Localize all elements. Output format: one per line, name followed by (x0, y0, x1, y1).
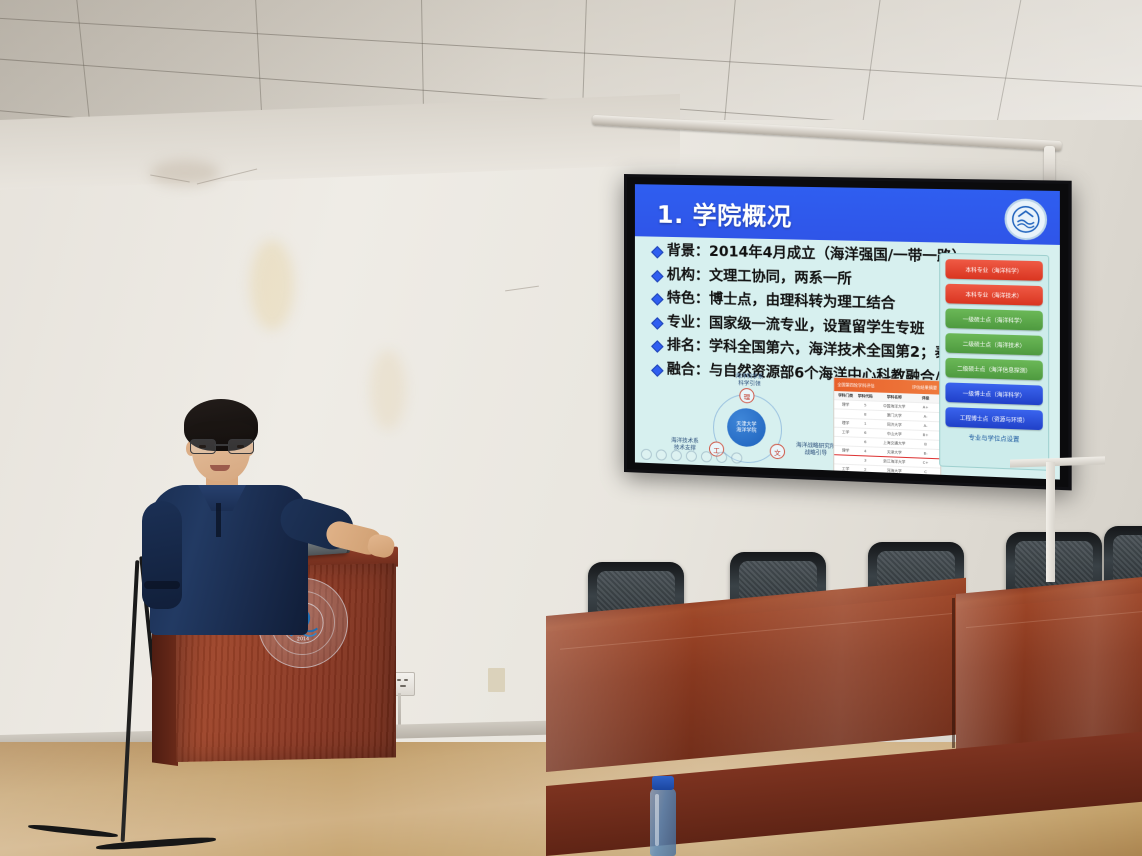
diamond-bullet-icon (651, 340, 664, 353)
lecture-room-photo: 1. 学院概况 背景：2014年4月成立（海洋强国/一带一路） 机构：文理工协 (0, 0, 1142, 856)
bullet-text: 国家级一流专业，设置留学生专班 (709, 315, 925, 337)
cell: A- (915, 414, 936, 419)
cell: 1 (857, 421, 874, 426)
cell: 8 (857, 412, 874, 417)
cell: 上海交通大学 (874, 440, 916, 447)
laser-icon[interactable] (686, 450, 697, 462)
bullet-label: 特色： (667, 290, 709, 307)
cell: 工学 (834, 429, 857, 435)
presenter-placket (216, 503, 221, 537)
list-item: 专业：国家级一流专业，设置留学生专班 (653, 313, 971, 340)
cell: 6 (857, 440, 874, 445)
cell: 2 (857, 467, 874, 472)
settings-icon[interactable] (716, 452, 727, 464)
col-head: 学科代码 (857, 393, 874, 399)
cell: 工学 (834, 466, 857, 472)
cell: 理学 (834, 448, 857, 454)
pointer-icon[interactable] (641, 449, 652, 460)
cell: A- (915, 423, 936, 428)
cell: 5 (857, 476, 874, 478)
slide-bullet-list: 背景：2014年4月成立（海洋强国/一带一路） 机构：文理工协同，两系一所 特色… (653, 243, 971, 395)
cell: 浙江海洋大学 (874, 458, 916, 465)
org-node-wen: 文 (770, 444, 785, 460)
list-item: 排名：学科全国第六，海洋技术全国第2；泰晤士A类 (653, 337, 971, 364)
degree-box: 二级硕士点（海洋信息探测） (945, 358, 1042, 381)
cell: 天津大学 (874, 449, 916, 456)
cell: 理学 (834, 402, 857, 408)
water-bottle[interactable] (650, 788, 676, 856)
presenter (140, 385, 370, 635)
cell: 3 (857, 458, 874, 463)
bullet-label: 专业： (667, 314, 709, 331)
cell (834, 413, 857, 414)
cell: 理学 (834, 420, 857, 426)
org-top-caption: 海洋科学系 科学引领 (713, 373, 786, 389)
list-item: 机构：文理工协同，两系一所 (653, 266, 971, 291)
slide-title: 1. 学院概况 (657, 195, 792, 233)
cell: 河海大学 (874, 467, 916, 474)
degree-box: 本科专业（海洋技术） (945, 284, 1042, 306)
col-head: 学科门类 (834, 393, 857, 399)
bullet-text: 2014年4月成立（海洋强国/一带一路） (709, 244, 966, 266)
bullet-label: 机构： (667, 266, 709, 283)
svg-text:2014: 2014 (297, 636, 309, 642)
table-header-left: 全国第四轮学科评估 (837, 381, 874, 388)
cell: 哈尔滨工程大学 (874, 477, 916, 479)
diamond-bullet-icon (651, 246, 664, 259)
pen-icon[interactable] (656, 449, 667, 460)
bullet-text: 文理工协同，两系一所 (709, 267, 852, 287)
diamond-bullet-icon (651, 293, 664, 306)
degree-panel-caption: 专业与学位点设置 (945, 432, 1042, 445)
degree-box: 工程博士点（资源与环境） (945, 407, 1042, 430)
org-center-node: 天津大学 海洋学院 (727, 408, 766, 448)
cell: C (915, 470, 936, 475)
cell: 6 (857, 431, 874, 436)
cell: C+ (915, 460, 936, 465)
bullet-label: 排名： (667, 337, 709, 354)
cell: 4 (857, 449, 874, 454)
cell: 中山大学 (874, 431, 916, 438)
list-item: 背景：2014年4月成立（海洋强国/一带一路） (653, 243, 971, 268)
table-header-right: 评估结果摘要 (912, 384, 937, 391)
degree-program-panel: 本科专业（海洋科学） 本科专业（海洋技术） 一级硕士点（海洋科学） 二级硕士点（… (939, 253, 1049, 471)
cell: 中国海洋大学 (874, 403, 916, 410)
slide-canvas: 1. 学院概况 背景：2014年4月成立（海洋强国/一带一路） 机构：文理工协 (635, 184, 1060, 479)
list-item: 特色：博士点，由理科转为理工结合 (653, 290, 971, 316)
cell (834, 459, 857, 460)
org-node-li: 理 (739, 388, 754, 404)
cell: B- (915, 451, 936, 456)
diamond-bullet-icon (651, 317, 664, 330)
bullet-label: 背景： (667, 243, 709, 260)
presenter-mouth (210, 465, 230, 471)
cell (834, 441, 857, 442)
cell: 厦门大学 (874, 412, 916, 419)
cell (834, 478, 857, 479)
wall-patch (488, 668, 505, 692)
projection-screen[interactable]: 1. 学院概况 背景：2014年4月成立（海洋强国/一带一路） 机构：文理工协 (624, 174, 1072, 490)
ranking-table-image: 全国第四轮学科评估 评估结果摘要 学科门类 学科代码 学科名称 评级 理学5中国… (833, 377, 941, 479)
cell: 同济大学 (874, 421, 916, 428)
col-head: 学科名称 (874, 394, 916, 401)
degree-box: 本科专业（海洋科学） (945, 259, 1042, 281)
bottle-cap[interactable] (652, 776, 674, 790)
presenter-glasses (190, 439, 252, 453)
cell: 5 (857, 403, 874, 408)
degree-box: 二级硕士点（海洋技术） (945, 333, 1042, 355)
degree-box: 一级博士点（海洋科学） (945, 382, 1042, 405)
cell: B (915, 442, 936, 447)
table-row: 5哈尔滨工程大学C- (834, 474, 940, 479)
highlighter-icon[interactable] (671, 450, 682, 461)
degree-box: 一级硕士点（海洋科学） (945, 308, 1042, 330)
diamond-bullet-icon (651, 269, 664, 282)
table-seam (952, 598, 955, 748)
presenter-left-arm (142, 501, 182, 609)
col-head: 评级 (915, 395, 936, 401)
slides-icon[interactable] (701, 451, 712, 463)
bullet-text: 博士点，由理科转为理工结合 (709, 291, 895, 312)
cell: B+ (915, 433, 936, 438)
wall-pipe (1046, 462, 1055, 582)
more-icon[interactable] (731, 452, 742, 464)
cell: A+ (915, 405, 936, 410)
tianjin-university-ocean-logo (1005, 198, 1048, 240)
